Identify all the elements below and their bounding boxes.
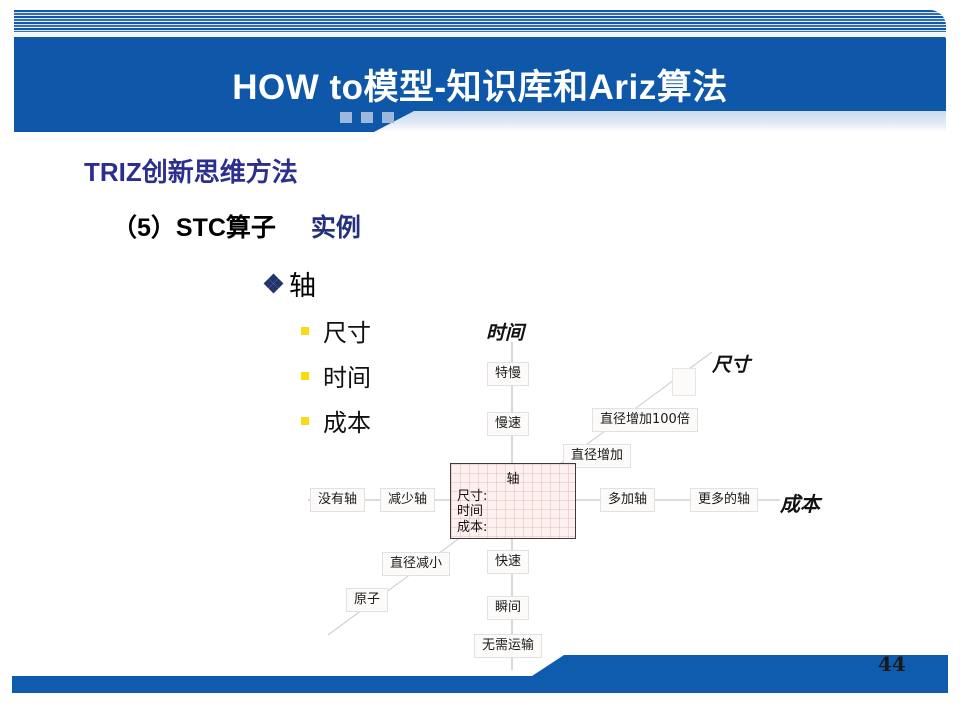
bullet-label: 轴 xyxy=(289,264,316,303)
list-item: 轴 xyxy=(265,264,371,303)
diagram-node-cost-left-2: 减少轴 xyxy=(380,488,435,512)
center-box-title: 轴 xyxy=(451,468,575,487)
page-title: HOW to模型-知识库和Ariz算法 xyxy=(14,70,946,105)
diagram-node-time-down-1: 快速 xyxy=(487,550,529,574)
diagram-node-size-up-2: 直径增加100倍 xyxy=(592,408,698,432)
subtitle-secondary-main: （5）STC算子 xyxy=(112,214,276,242)
page-number: 44 xyxy=(878,652,906,676)
center-box-item: 成本: xyxy=(457,520,575,535)
time-axis-label: 时间 xyxy=(486,318,524,345)
diagram-node-time-up-1: 特慢 xyxy=(487,362,529,386)
diagram-node-time-down-2: 瞬间 xyxy=(487,596,529,620)
subtitle-secondary-accent: 实例 xyxy=(311,214,361,242)
center-box-item: 尺寸: xyxy=(457,489,575,504)
header-dot-icon xyxy=(361,112,373,123)
stc-axis-diagram: 时间 尺寸 成本 特慢 慢速 快速 瞬间 无需运输 没有轴 减少轴 多加轴 更多… xyxy=(280,300,840,670)
header-dot-decoration xyxy=(340,112,394,123)
diagram-node-time-up-2: 慢速 xyxy=(487,412,529,436)
diagram-node-size-empty xyxy=(672,368,696,396)
diagram-center-box: 轴 尺寸: 时间 成本: xyxy=(450,463,576,539)
diagram-node-cost-left-1: 没有轴 xyxy=(310,488,365,512)
header-dot-icon xyxy=(340,112,352,123)
diagram-node-size-down-1: 直径减小 xyxy=(382,552,450,576)
center-box-item: 时间 xyxy=(457,504,575,519)
header-main-bar: HOW to模型-知识库和Ariz算法 xyxy=(14,37,946,111)
diagram-node-cost-right-2: 更多的轴 xyxy=(690,488,758,512)
diagram-node-cost-right-1: 多加轴 xyxy=(600,488,655,512)
footer-bar xyxy=(12,655,948,693)
diagram-node-size-down-2: 原子 xyxy=(346,588,388,612)
slide-header: HOW to模型-知识库和Ariz算法 xyxy=(14,10,946,122)
size-axis-label: 尺寸 xyxy=(712,350,750,377)
slide-footer xyxy=(0,655,960,701)
header-dot-icon xyxy=(382,112,394,123)
header-lower-band xyxy=(14,111,946,132)
center-box-items: 尺寸: 时间 成本: xyxy=(457,489,575,535)
subtitle-secondary: （5）STC算子 实例 xyxy=(112,208,361,244)
slide-canvas: HOW to模型-知识库和Ariz算法 TRIZ创新思维方法 （5）STC算子 … xyxy=(0,0,960,720)
diamond-bullet-icon xyxy=(265,275,282,292)
subtitle-primary: TRIZ创新思维方法 xyxy=(84,152,298,189)
cost-axis-label: 成本 xyxy=(780,488,820,517)
